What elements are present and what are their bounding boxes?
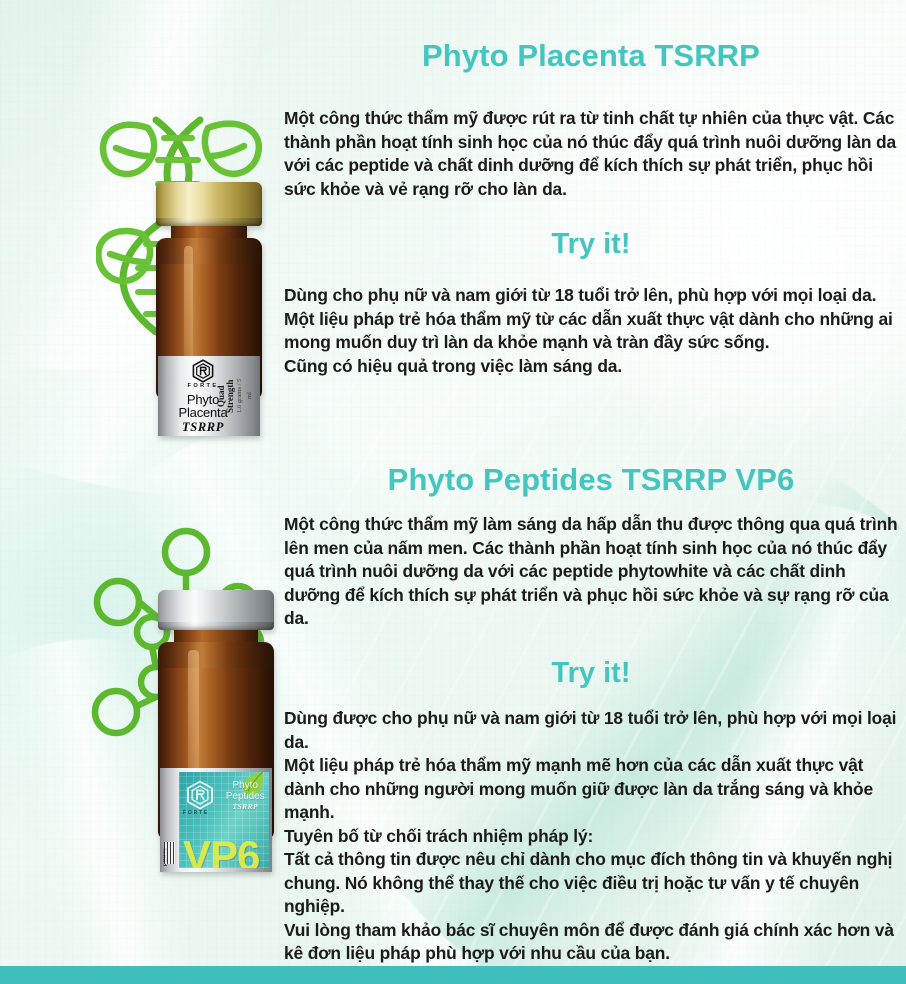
vial-side-text: Quad Strength 1.0 grams / 5 ml bbox=[217, 376, 255, 416]
paragraph: Một công thức thẩm mỹ làm sáng da hấp dẫ… bbox=[284, 513, 898, 631]
vial-cap-rim bbox=[156, 218, 262, 226]
product-big-label: VP6 bbox=[183, 835, 259, 868]
product-code: TSRRP bbox=[179, 421, 228, 434]
vial-label-vp6: FORTE FORTE bbox=[160, 768, 272, 872]
paragraph: Một công thức thẩm mỹ được rút ra từ tin… bbox=[284, 107, 898, 201]
vial-bottle: FORTE Phyto Placenta TSRRP Quad Strength… bbox=[156, 182, 262, 400]
vial-cap-silver bbox=[158, 590, 274, 630]
forte-hex-logo-icon bbox=[185, 780, 215, 810]
try-it-heading-2: Try it! bbox=[284, 658, 898, 690]
vial-shoulder bbox=[158, 642, 274, 668]
section-title-phyto-peptides: Phyto Peptides TSRRP VP6 bbox=[284, 462, 898, 498]
section-usage-phyto-peptides: Dùng được cho phụ nữ và nam giới từ 18 t… bbox=[284, 707, 898, 966]
vial-glass-body: FORTE FORTE bbox=[158, 642, 274, 840]
product-name-line2: Peptides bbox=[226, 792, 265, 803]
side-text-volume: 1.0 grams / 5 ml bbox=[236, 379, 253, 413]
product-name-block: Phyto Peptides TSRRP bbox=[226, 781, 265, 813]
forte-hex-logo-icon bbox=[191, 359, 215, 383]
vial-label-silver: FORTE Phyto Placenta TSRRP Quad Strength… bbox=[158, 356, 260, 436]
product-code: TSRRP bbox=[226, 802, 265, 813]
section-description-phyto-placenta: Một công thức thẩm mỹ được rút ra từ tin… bbox=[284, 107, 898, 201]
poster-canvas: Phyto Placenta TSRRP Một công thức thẩm … bbox=[0, 0, 906, 984]
section-description-phyto-peptides: Một công thức thẩm mỹ làm sáng da hấp dẫ… bbox=[284, 513, 898, 631]
product-name-line1: Phyto bbox=[226, 781, 265, 792]
vial-cap-gold bbox=[156, 182, 262, 226]
section-title-phyto-placenta: Phyto Placenta TSRRP bbox=[284, 38, 898, 74]
vial-bottle: FORTE FORTE bbox=[158, 590, 274, 840]
label-teal-panel: FORTE Phyto Peptides TSRRP VP6 bbox=[179, 772, 269, 868]
barcode-icon bbox=[164, 842, 174, 864]
try-it-heading-1: Try it! bbox=[284, 229, 898, 261]
product-image-phyto-placenta: FORTE Phyto Placenta TSRRP Quad Strength… bbox=[96, 112, 286, 402]
vial-shoulder bbox=[156, 238, 262, 264]
vial-glass-body: FORTE Phyto Placenta TSRRP Quad Strength… bbox=[156, 238, 262, 400]
side-text-strength: Quad Strength bbox=[216, 379, 235, 412]
product-image-phyto-peptides: FORTE FORTE bbox=[88, 516, 288, 846]
section-usage-phyto-placenta: Dùng cho phụ nữ và nam giới từ 18 tuổi t… bbox=[284, 284, 898, 378]
brand-name: FORTE bbox=[183, 810, 209, 816]
vial-cap-rim bbox=[158, 622, 274, 630]
bottom-accent-bar bbox=[0, 966, 906, 984]
